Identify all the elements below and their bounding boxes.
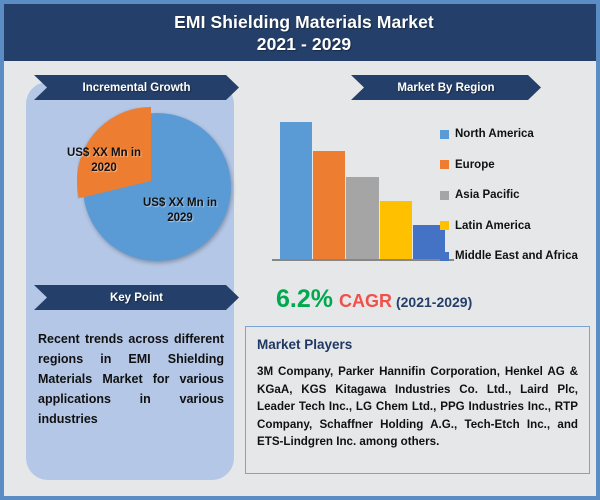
legend-item-middle-east-and-africa: Middle East and Africa xyxy=(440,241,590,272)
page-title-line1: EMI Shielding Materials Market xyxy=(174,11,434,33)
market-players-title: Market Players xyxy=(257,337,578,352)
legend-item-north-america: North America xyxy=(440,119,590,150)
infographic-root: EMI Shielding Materials Market 2021 - 20… xyxy=(0,0,600,500)
banner-incremental-growth: Incremental Growth xyxy=(34,75,239,100)
cagr-years: (2021-2029) xyxy=(396,294,472,310)
banner-market-by-region: Market By Region xyxy=(351,75,541,100)
legend-label: Middle East and Africa xyxy=(455,250,578,262)
chart-legend: North AmericaEuropeAsia PacificLatin Ame… xyxy=(440,119,590,272)
legend-item-asia-pacific: Asia Pacific xyxy=(440,180,590,211)
bar-europe xyxy=(313,151,345,259)
legend-swatch-icon xyxy=(440,160,449,169)
page-header: EMI Shielding Materials Market 2021 - 20… xyxy=(4,4,600,61)
page-title-line2: 2021 - 2029 xyxy=(257,33,352,55)
cagr-word: CAGR xyxy=(339,291,392,312)
incremental-growth-pie-chart: US$ XX Mn in 2020 US$ XX Mn in 2029 xyxy=(26,102,234,274)
legend-label: Europe xyxy=(455,159,495,171)
bar-north-america xyxy=(280,122,312,259)
legend-item-europe: Europe xyxy=(440,150,590,181)
market-players-box: Market Players 3M Company, Parker Hannif… xyxy=(245,326,590,474)
legend-item-latin-america: Latin America xyxy=(440,211,590,242)
pie-label-2020: US$ XX Mn in 2020 xyxy=(58,146,150,176)
bar-chart-axis xyxy=(272,259,454,261)
pie-label-2029: US$ XX Mn in 2029 xyxy=(130,196,230,226)
market-players-list: 3M Company, Parker Hannifin Corporation,… xyxy=(257,363,578,451)
bar-latin-america xyxy=(380,201,412,259)
cagr-value: 6.2% xyxy=(276,285,333,314)
legend-label: Latin America xyxy=(455,220,531,232)
banner-key-point: Key Point xyxy=(34,285,239,310)
legend-swatch-icon xyxy=(440,130,449,139)
legend-label: Asia Pacific xyxy=(455,189,520,201)
key-point-text: Recent trends across different regions i… xyxy=(38,329,224,429)
cagr-callout: 6.2% CAGR (2021-2029) xyxy=(276,285,472,314)
legend-label: North America xyxy=(455,128,534,140)
market-by-region-bar-chart xyxy=(280,122,446,259)
legend-swatch-icon xyxy=(440,191,449,200)
bar-asia-pacific xyxy=(346,177,378,259)
legend-swatch-icon xyxy=(440,252,449,261)
legend-swatch-icon xyxy=(440,221,449,230)
